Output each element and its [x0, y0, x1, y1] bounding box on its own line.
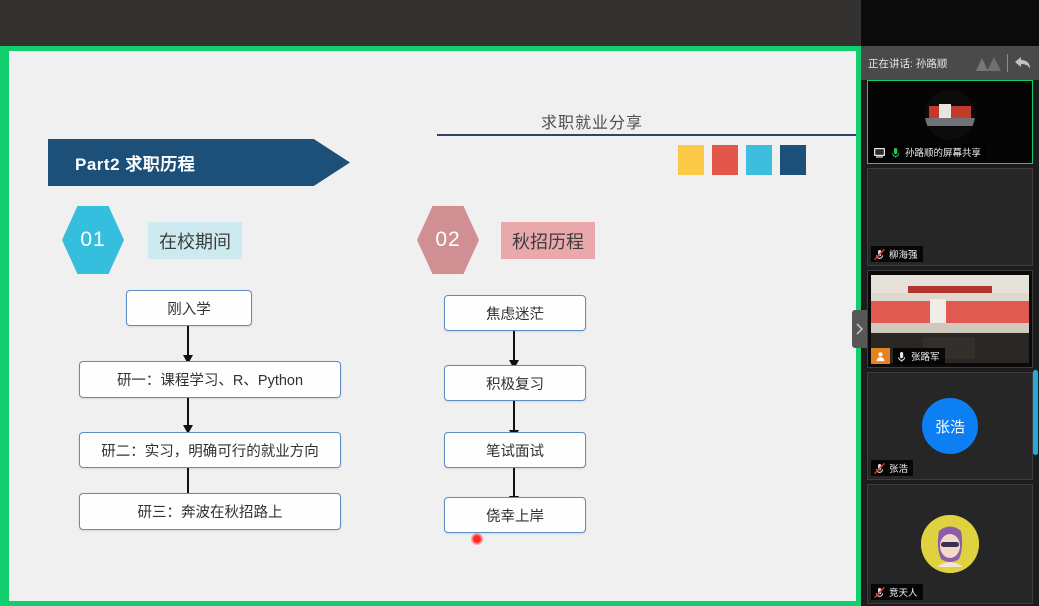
section-badge-01: 01	[62, 206, 124, 274]
avatar: 张浩	[922, 398, 978, 454]
participant-tile-screen-share[interactable]: 孙路顺的屏幕共享	[867, 80, 1033, 164]
name-badge: 柳海强	[871, 246, 923, 262]
share-border-bottom	[0, 601, 163, 606]
flow-box-left-2: 研一：课程学习、R、Python	[79, 361, 341, 398]
name-badge: 孙路顺的屏幕共享	[871, 144, 986, 160]
participant-name: 张路军	[911, 349, 940, 363]
slide-header-title: 求职就业分享	[541, 109, 643, 133]
flow-box-right-2: 积极复习	[444, 365, 586, 401]
microphone-icon	[889, 146, 902, 159]
accent-square-1	[678, 145, 704, 175]
microphone-muted-icon	[873, 586, 886, 599]
flow-box-left-3: 研二：实习，明确可行的就业方向	[79, 432, 341, 468]
participant-tiles: 孙路顺的屏幕共享 柳海强	[861, 80, 1039, 606]
title-divider	[437, 134, 856, 136]
participant-name: 张浩	[889, 461, 908, 475]
reply-arrow-icon[interactable]	[1014, 54, 1032, 72]
participant-tile-4[interactable]: 张浩 张浩	[867, 372, 1033, 480]
microphone-icon	[895, 350, 908, 363]
microphone-muted-icon	[873, 248, 886, 261]
section-label-01: 在校期间	[148, 222, 242, 259]
participant-tile-5[interactable]: 竞天人	[867, 484, 1033, 604]
flow-arrow-left-1	[187, 326, 189, 356]
accent-square-3	[746, 145, 772, 175]
participant-name: 孙路顺的屏幕共享	[905, 145, 981, 159]
flow-arrow-right-2	[513, 401, 515, 431]
avatar	[925, 90, 975, 140]
active-speaker-bar: 正在讲话: 孙路顺	[861, 46, 1039, 80]
microphone-muted-icon	[873, 462, 886, 475]
participant-name: 竞天人	[889, 585, 918, 599]
flow-arrow-right-1	[513, 331, 515, 361]
mountain-icon[interactable]	[975, 54, 1001, 72]
section-label-02: 秋招历程	[501, 222, 595, 259]
screen-share-icon	[873, 146, 886, 159]
laser-pointer-dot	[471, 533, 483, 545]
part-banner-label: Part2 求职历程	[48, 150, 195, 175]
section-number-01: 01	[80, 228, 105, 252]
participant-name: 柳海强	[889, 247, 918, 261]
accent-square-4	[780, 145, 806, 175]
accent-square-row	[678, 145, 806, 175]
collapse-panel-button[interactable]	[852, 310, 867, 348]
section-number-02: 02	[435, 228, 460, 252]
part-banner: Part2 求职历程	[48, 139, 350, 186]
top-bar	[0, 0, 861, 46]
host-person-icon	[875, 351, 886, 362]
host-badge	[871, 348, 890, 364]
avatar-initials: 张浩	[935, 416, 965, 437]
chevron-right-icon	[855, 323, 864, 335]
flow-arrow-left-3	[187, 468, 189, 494]
name-badge: 竞天人	[871, 584, 923, 600]
section-badge-02: 02	[417, 206, 479, 274]
flow-arrow-left-2	[187, 398, 189, 426]
name-badge: 张路军	[893, 348, 945, 364]
share-border-left	[0, 46, 9, 606]
panel-top-black-area	[861, 0, 1039, 46]
profile-photo-icon	[921, 515, 979, 573]
presentation-slide: 求职就业分享 Part2 求职历程 01 在校期间 刚入学 研一：课程学习、R、…	[9, 51, 856, 601]
accent-square-2	[712, 145, 738, 175]
flow-arrow-right-3	[513, 468, 515, 497]
avatar	[921, 515, 979, 573]
flow-box-right-1: 焦虑迷茫	[444, 295, 586, 331]
participant-tile-2[interactable]: 柳海强	[867, 168, 1033, 266]
panel-scrollbar[interactable]	[1033, 370, 1038, 455]
active-speaker-label: 正在讲话: 孙路顺	[861, 56, 975, 71]
participant-tile-3[interactable]: 张路军	[867, 270, 1033, 368]
name-badge: 张浩	[871, 460, 913, 476]
flow-box-left-4: 研三：奔波在秋招路上	[79, 493, 341, 530]
desk-photo-icon	[925, 90, 975, 140]
flow-box-left-1: 刚入学	[126, 290, 252, 326]
flow-box-right-3: 笔试面试	[444, 432, 586, 468]
toolbar-divider	[1007, 54, 1008, 72]
participants-panel: 正在讲话: 孙路顺	[861, 0, 1039, 606]
screen-share-frame: 求职就业分享 Part2 求职历程 01 在校期间 刚入学 研一：课程学习、R、…	[0, 46, 861, 606]
flow-box-right-4: 侥幸上岸	[444, 497, 586, 533]
